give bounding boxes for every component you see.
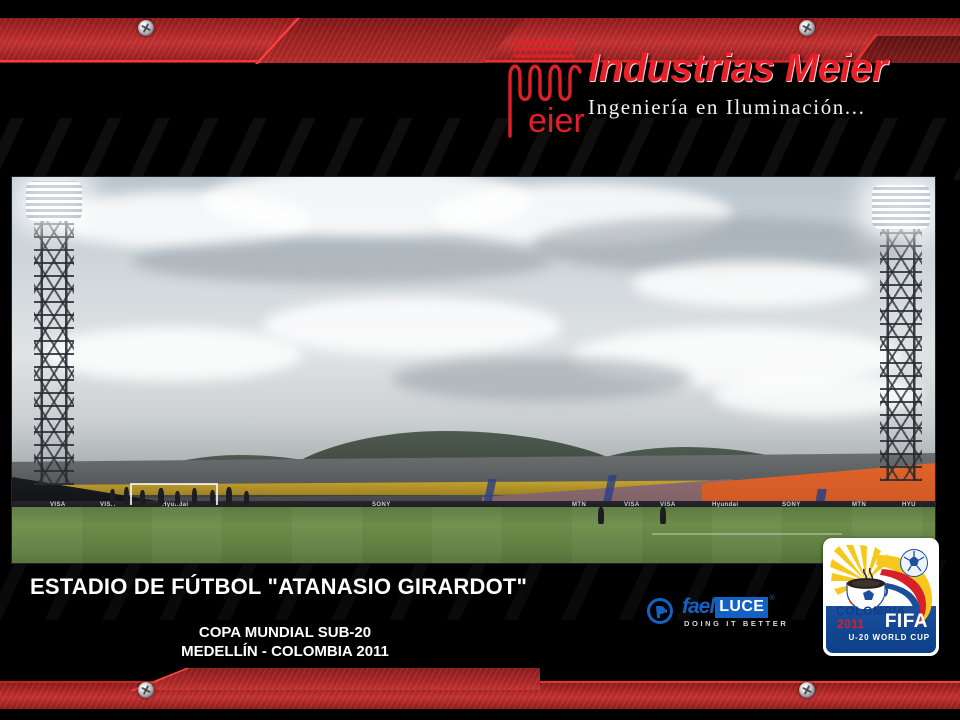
football-pitch bbox=[12, 507, 935, 563]
badge-organization: FIFA bbox=[885, 611, 928, 633]
meier-logo-icon: eier bbox=[498, 36, 590, 142]
event-subtitle-line1: COPA MUNDIAL SUB-20 bbox=[120, 623, 450, 642]
fael-luce-wordmark: faelLUCE® bbox=[682, 595, 775, 619]
football-icon bbox=[900, 549, 928, 577]
badge-inner: COLOMBIA 2011 FIFA U-20 WORLD CUP bbox=[826, 541, 936, 653]
page-title: ESTADIO DE FÚTBOL "ATANASIO GIRARDOT" bbox=[30, 574, 527, 600]
fael-circle-icon bbox=[646, 597, 674, 625]
fael-luce-tagline: DOING IT BETTER bbox=[684, 619, 788, 628]
floodlight-tower-right bbox=[880, 191, 922, 481]
badge-competition: U-20 WORLD CUP bbox=[849, 633, 931, 642]
event-subtitle-line2: MEDELLÍN - COLOMBIA 2011 bbox=[120, 642, 450, 661]
slide-canvas: eier Industrias Meier Ingeniería en Ilum… bbox=[0, 0, 960, 720]
bottom-red-wedge bbox=[130, 668, 540, 690]
stadium-photo: VISA VISA Hyundai SONY MTN VISA VISA Hyu… bbox=[12, 177, 935, 563]
company-branding: eier Industrias Meier Ingeniería en Ilum… bbox=[498, 36, 928, 148]
screw-bottom-left-icon bbox=[138, 682, 154, 698]
floodlight-tower-left bbox=[34, 185, 74, 485]
top-red-wedge bbox=[255, 18, 525, 63]
meier-logo-wordmark: eier bbox=[528, 102, 585, 140]
company-tagline: Ingeniería en Iluminación... bbox=[588, 95, 928, 120]
fael-word: fael bbox=[682, 595, 714, 619]
company-name: Industrias Meier bbox=[588, 48, 928, 88]
luce-word: LUCE bbox=[715, 597, 768, 618]
fael-luce-logo: faelLUCE® DOING IT BETTER bbox=[646, 595, 806, 631]
badge-year: 2011 bbox=[837, 617, 865, 631]
registered-mark: ® bbox=[769, 595, 774, 602]
coffee-cup-football-icon bbox=[844, 567, 894, 609]
fifa-u20-world-cup-badge: COLOMBIA 2011 FIFA U-20 WORLD CUP bbox=[823, 538, 939, 656]
event-subtitle: COPA MUNDIAL SUB-20 MEDELLÍN - COLOMBIA … bbox=[120, 623, 450, 661]
screw-bottom-right-icon bbox=[799, 682, 815, 698]
brand-text-block: Industrias Meier Ingeniería en Iluminaci… bbox=[588, 48, 928, 120]
screw-top-right-icon bbox=[799, 20, 815, 36]
screw-top-left-icon bbox=[138, 20, 154, 36]
